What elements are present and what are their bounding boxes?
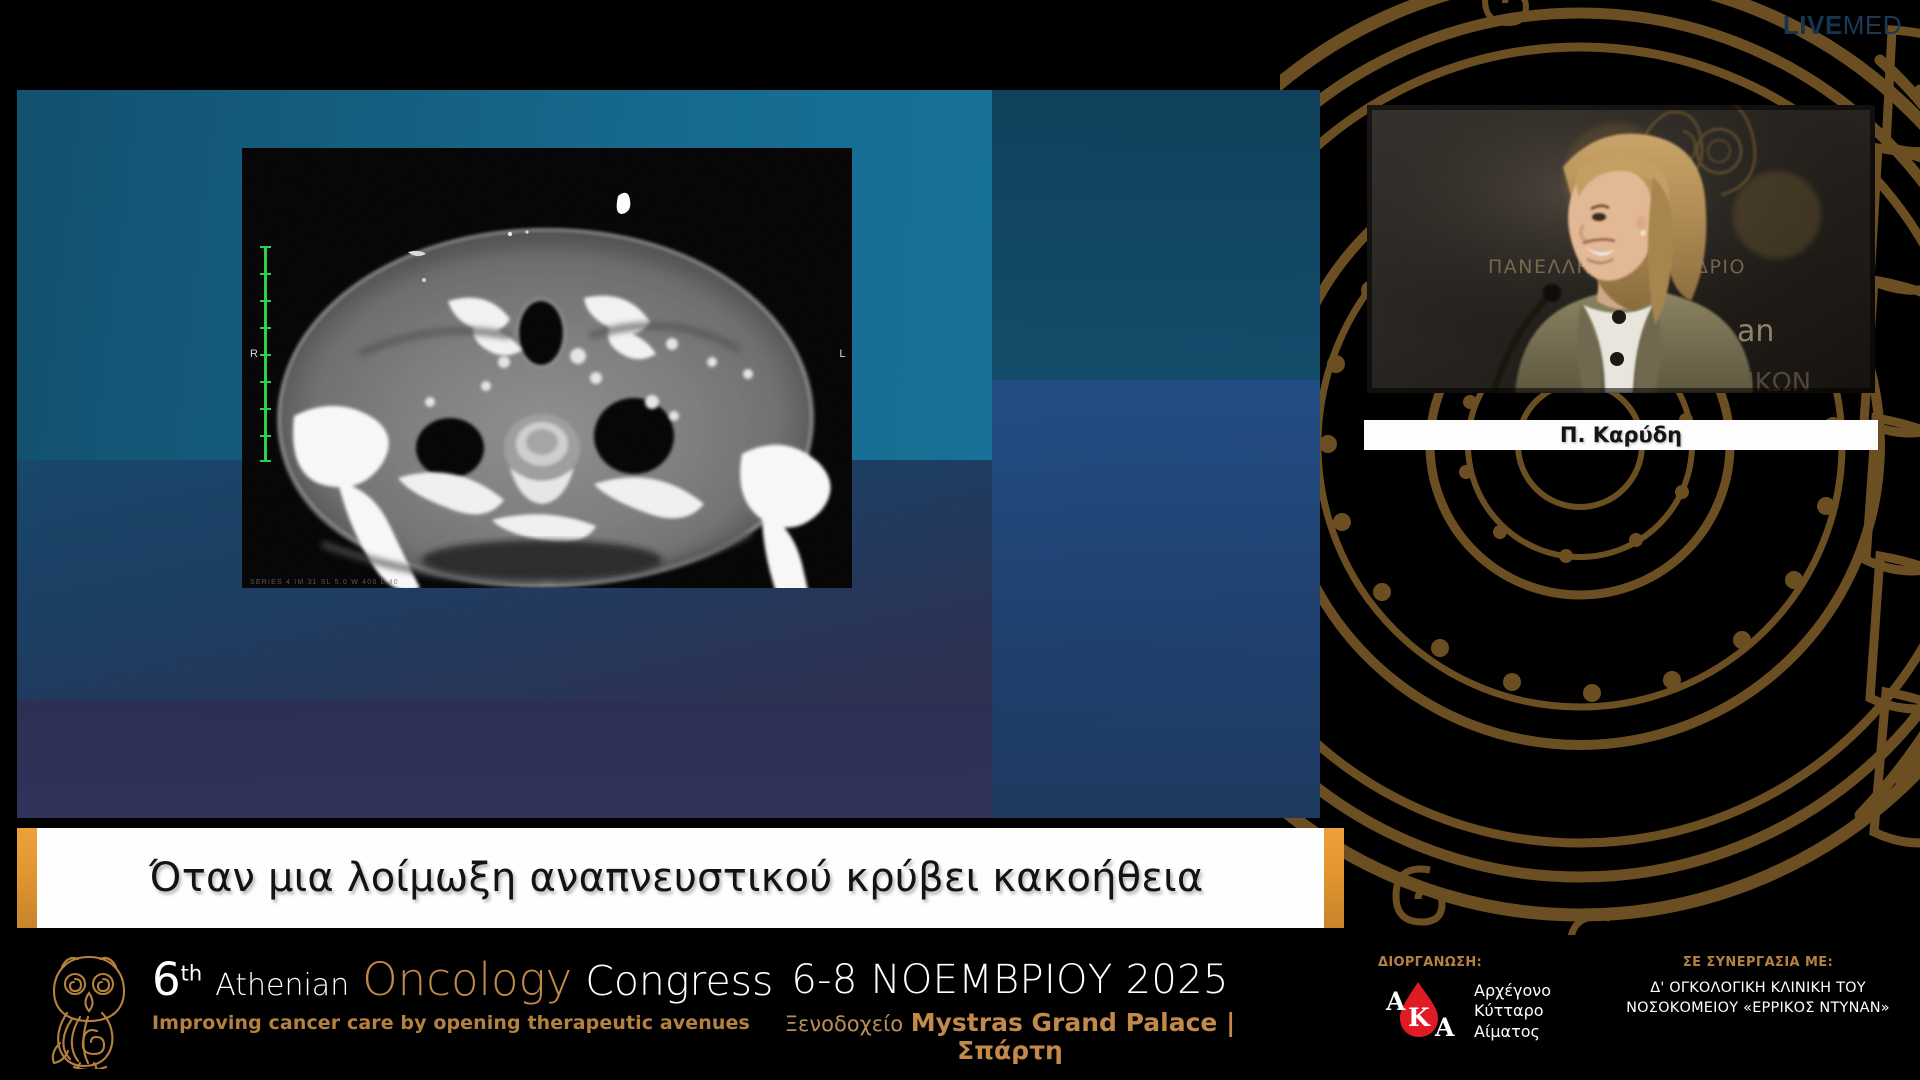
slide-bg-block-bottom xyxy=(17,700,992,818)
congress-tagline: Improving cancer care by opening therape… xyxy=(152,1012,773,1034)
cooperation-label: ΣΕ ΣΥΝΕΡΓΑΣΙΑ ΜΕ: xyxy=(1608,955,1908,970)
congress-dates: 6-8 ΝΟΕΜΒΡΙΟΥ 2025 xyxy=(780,959,1240,1001)
cooperation-block: ΣΕ ΣΥΝΕΡΓΑΣΙΑ ΜΕ: Δ' ΟΓΚΟΛΟΓΙΚΗ ΚΛΙΝΙΚΗ … xyxy=(1608,955,1908,1018)
title-sheet: Όταν μια λοίμωξη αναπνευστικού κρύβει κα… xyxy=(37,828,1324,928)
cooperation-text: Δ' ΟΓΚΟΛΟΓΙΚΗ ΚΛΙΝΙΚΗ ΤΟΥ ΝΟΣΟΚΟΜΕΙΟΥ «Ε… xyxy=(1608,978,1908,1018)
ct-ruler xyxy=(264,246,267,462)
venue-name: Mystras Grand Palace | Σπάρτη xyxy=(911,1008,1235,1065)
aka-blood-drop-icon: Α Κ Α xyxy=(1378,978,1462,1045)
livemed-med-text: MED xyxy=(1843,10,1902,40)
slide-bg-block-right-bottom xyxy=(992,380,1320,818)
organizer-name: Αρχέγονο Κύτταρο Αίματος xyxy=(1474,981,1551,1042)
cooperation-line1: Δ' ΟΓΚΟΛΟΓΙΚΗ ΚΛΙΝΙΚΗ ΤΟΥ xyxy=(1608,978,1908,998)
title-accent-bar-right xyxy=(1324,828,1344,928)
conference-brand-bar: 6th Athenian Oncology Congress Improving… xyxy=(0,935,1920,1080)
congress-word-congress: Congress xyxy=(585,957,773,1005)
congress-title-block: 6th Athenian Oncology Congress Improving… xyxy=(152,957,773,1034)
slide-title-banner: Όταν μια λοίμωξη αναπνευστικού κρύβει κα… xyxy=(17,828,1344,928)
ct-footer-annotation: SERIES 4 IM 31 SL 5.0 W 400 L 40 xyxy=(250,579,399,586)
organizer-label: ΔΙΟΡΓΑΝΩΣΗ: xyxy=(1378,955,1551,970)
congress-word-athenian: Athenian xyxy=(215,968,349,1003)
ct-orientation-right-marker: R xyxy=(250,348,258,360)
owl-logo-icon xyxy=(42,951,136,1074)
congress-ordinal: 6 xyxy=(152,953,181,1006)
speaker-name-plate: Π. Καρύδη xyxy=(1364,420,1878,450)
venue-prefix: Ξενοδοχείο xyxy=(785,1012,903,1036)
speaker-name-text: Π. Καρύδη xyxy=(1560,423,1682,447)
organizer-name-line3: Αίματος xyxy=(1474,1022,1551,1042)
ct-orientation-left-marker: L xyxy=(839,348,846,360)
congress-venue-line: Ξενοδοχείο Mystras Grand Palace | Σπάρτη xyxy=(780,1009,1240,1064)
organizer-block: ΔΙΟΡΓΑΝΩΣΗ: Α Κ Α Αρχέγονο Κύτταρο Αίματ… xyxy=(1378,955,1551,1045)
congress-title-line: 6th Athenian Oncology Congress xyxy=(152,957,773,1003)
svg-text:an: an xyxy=(1737,314,1774,349)
webcast-stage: LIVEMED xyxy=(0,0,1920,1080)
congress-date-block: 6-8 ΝΟΕΜΒΡΙΟΥ 2025 Ξενοδοχείο Mystras Gr… xyxy=(780,959,1240,1064)
slide-bg-block-right-top xyxy=(992,90,1320,380)
ct-scan-image: R L SERIES 4 IM 31 SL 5.0 W 400 L 40 xyxy=(242,148,852,588)
svg-text:Α: Α xyxy=(1385,987,1406,1016)
svg-text:Κ: Κ xyxy=(1408,1003,1431,1032)
speaker-video-feed[interactable]: ΠΑΝΕΛΛΗΝΙΟ ΣΥΝΕΔΡΙΟ an ΙΚΩΝ xyxy=(1367,105,1875,393)
presentation-slide[interactable]: R L SERIES 4 IM 31 SL 5.0 W 400 L 40 xyxy=(17,90,1320,818)
organizer-name-line1: Αρχέγονο xyxy=(1474,981,1551,1001)
organizer-name-line2: Κύτταρο xyxy=(1474,1001,1551,1021)
organizer-row: Α Κ Α Αρχέγονο Κύτταρο Αίματος xyxy=(1378,978,1551,1045)
livemed-live-text: LIVE xyxy=(1783,10,1843,40)
livemed-watermark: LIVEMED xyxy=(1783,12,1902,38)
svg-text:Α: Α xyxy=(1434,1013,1455,1040)
slide-title-text: Όταν μια λοίμωξη αναπνευστικού κρύβει κα… xyxy=(149,855,1203,901)
cooperation-line2: ΝΟΣΟΚΟΜΕΙΟΥ «ΕΡΡΙΚΟΣ ΝΤΥΝΑΝ» xyxy=(1608,998,1908,1018)
congress-ordinal-suffix: th xyxy=(181,961,203,985)
title-accent-bar-left xyxy=(17,828,37,928)
congress-word-oncology: Oncology xyxy=(362,953,572,1006)
